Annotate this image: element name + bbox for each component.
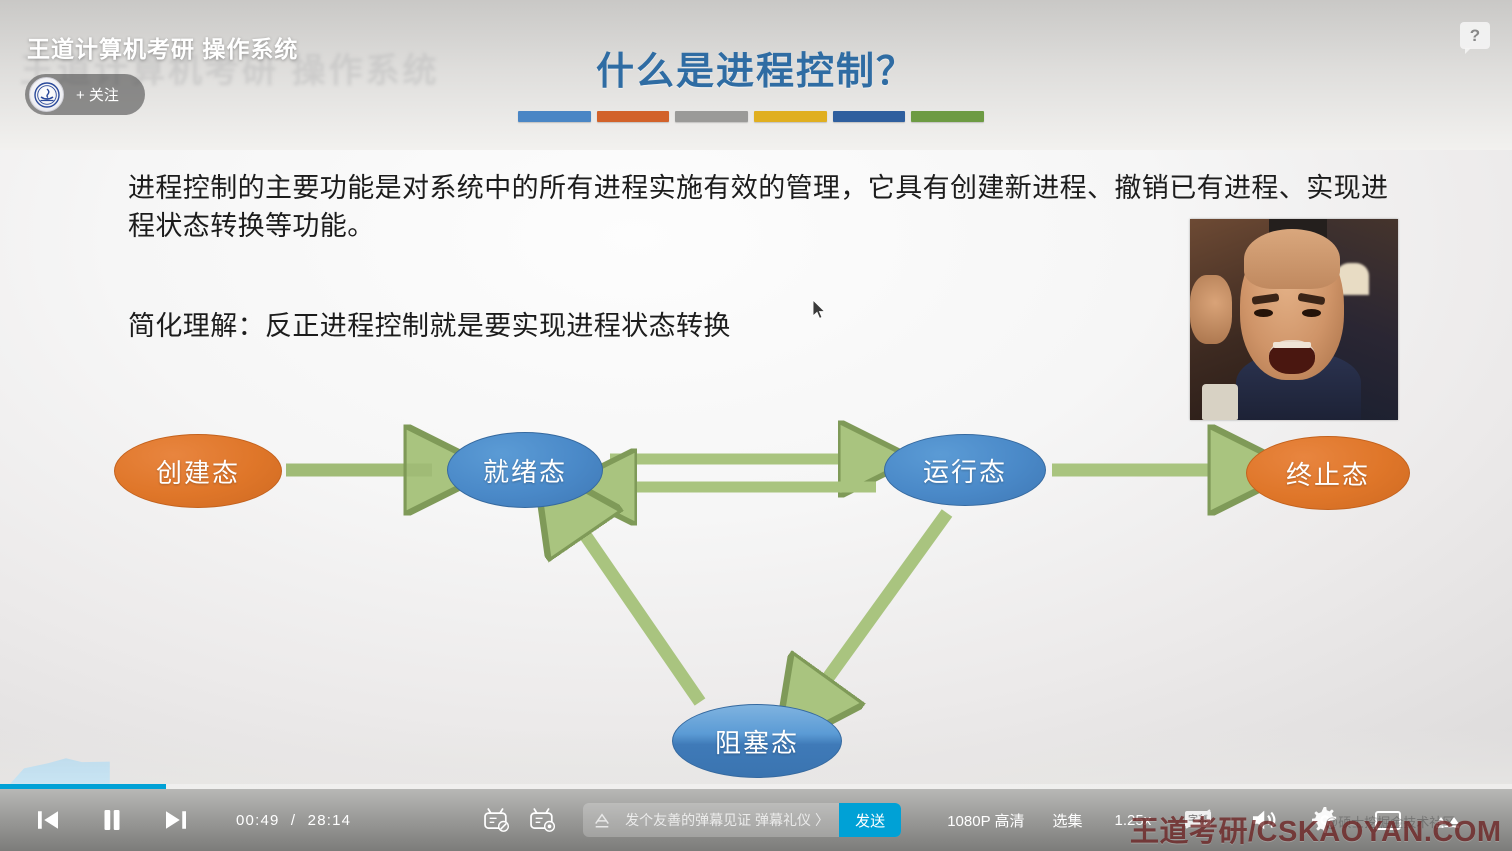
video-player: 什么是进程控制？ 进程控制的主要功能是对系统中的所有进程实施有效的管理，它具有创…: [0, 0, 1512, 851]
state-node-ready-label: 就绪态: [483, 452, 567, 489]
edge-blocked-to-ready: [570, 513, 700, 702]
quality-selector[interactable]: 1080P 高清: [947, 810, 1024, 831]
state-node-create-label: 创建态: [156, 453, 240, 490]
state-node-blocked: 阻塞态: [672, 704, 842, 778]
time-separator: /: [291, 812, 296, 829]
accent-bar-green: [911, 111, 984, 122]
player-control-bar: 00:49 / 28:14: [0, 789, 1512, 851]
accent-bar-gold: [754, 111, 827, 122]
pause-button[interactable]: [94, 802, 130, 838]
send-danmaku-button[interactable]: 发送: [839, 803, 901, 837]
state-node-blocked-label: 阻塞态: [715, 723, 799, 760]
current-time: 00:49: [236, 812, 280, 829]
slide-content: 什么是进程控制？ 进程控制的主要功能是对系统中的所有进程实施有效的管理，它具有创…: [0, 0, 1512, 789]
state-node-terminate-label: 终止态: [1286, 455, 1370, 492]
uploader-avatar-icon[interactable]: [29, 77, 64, 112]
danmaku-input-box[interactable]: 发个友善的弹幕见证 弹幕礼仪 〉 发送: [583, 803, 901, 837]
accent-bar-blue: [518, 111, 591, 122]
state-node-running: 运行态: [884, 434, 1046, 506]
gear-icon[interactable]: [1309, 805, 1341, 835]
shouting-man-meme-image: [1190, 219, 1398, 420]
follow-label: + 关注: [76, 84, 119, 105]
fullscreen-icon[interactable]: [1431, 805, 1465, 835]
state-node-terminate: 终止态: [1246, 436, 1410, 510]
accent-bar-gray: [675, 111, 748, 122]
danmaku-off-icon[interactable]: [481, 805, 511, 835]
danmaku-style-icon[interactable]: [589, 805, 615, 835]
accent-bar-navy: [833, 111, 906, 122]
accent-bar-orange: [597, 111, 670, 122]
state-node-create: 创建态: [114, 434, 282, 508]
previous-episode-icon[interactable]: [30, 802, 66, 838]
title-accent-bars: [518, 111, 984, 122]
follow-uploader-button[interactable]: + 关注: [25, 74, 145, 115]
playback-speed-button[interactable]: 1.25x: [1115, 812, 1152, 829]
slide-paragraph-2: 简化理解：反正进程控制就是要实现进程状态转换: [128, 308, 1028, 346]
state-node-running-label: 运行态: [923, 452, 1007, 489]
edge-running-to-blocked: [812, 513, 947, 700]
time-display: 00:49 / 28:14: [236, 812, 351, 829]
volume-icon[interactable]: [1247, 805, 1279, 835]
help-question-icon[interactable]: ?: [1460, 22, 1490, 49]
subtitle-off-icon[interactable]: 字幕: [1181, 805, 1215, 835]
total-time: 28:14: [308, 812, 352, 829]
next-episode-icon[interactable]: [158, 802, 194, 838]
danmaku-input-placeholder[interactable]: 发个友善的弹幕见证 弹幕礼仪 〉: [615, 810, 839, 830]
slide-title: 什么是进程控制？: [0, 40, 1512, 95]
episode-list-button[interactable]: 选集: [1053, 810, 1083, 831]
help-icon-glyph: ?: [1470, 26, 1480, 46]
picture-in-picture-icon[interactable]: [1371, 805, 1405, 835]
danmaku-on-icon[interactable]: [527, 805, 557, 835]
state-node-ready: 就绪态: [447, 432, 603, 508]
